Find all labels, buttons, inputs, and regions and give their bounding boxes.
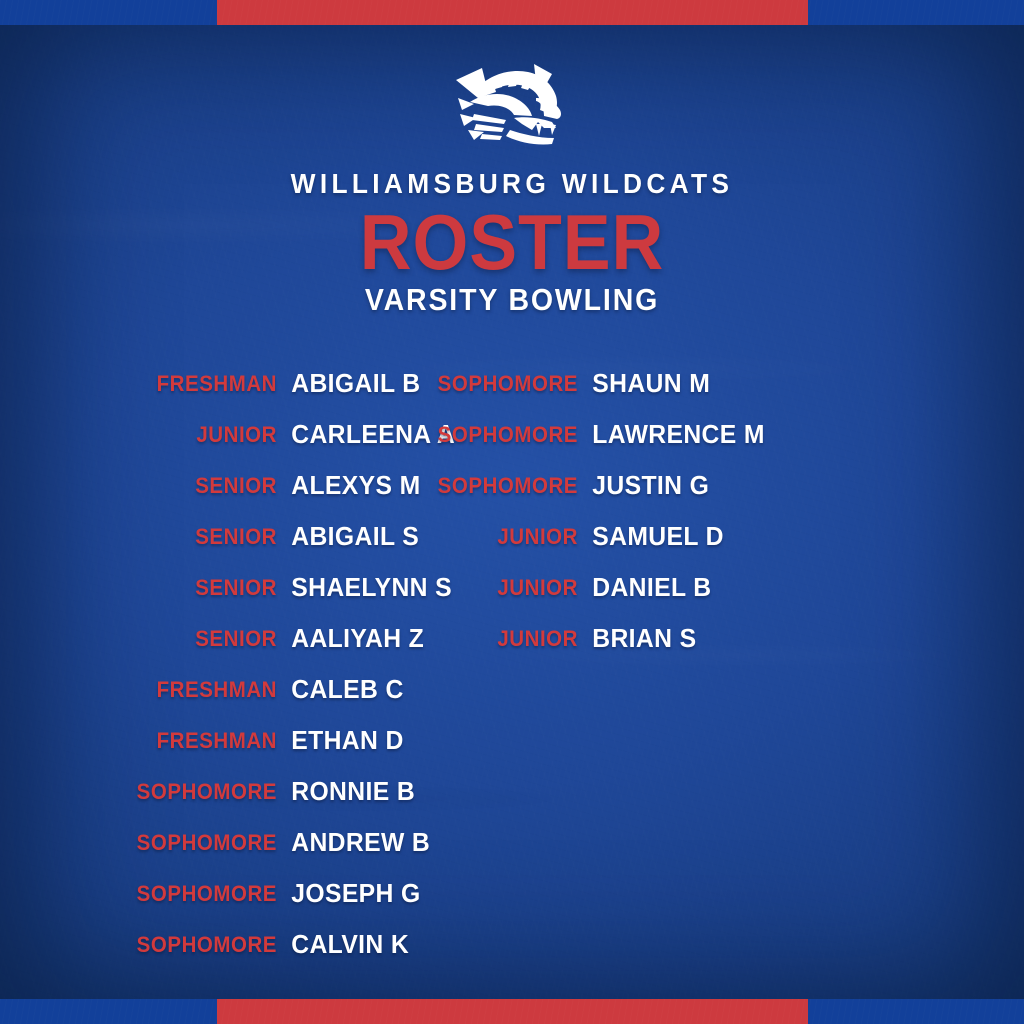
player-name: JUSTIN G <box>578 470 709 501</box>
logo-container <box>0 56 1024 152</box>
roster-row: FRESHMANCALEB C <box>0 664 446 715</box>
player-grade: SOPHOMORE <box>319 422 578 448</box>
bottom-accent-bar <box>0 999 1024 1024</box>
player-grade: JUNIOR <box>19 422 277 448</box>
player-name: CALVIN K <box>277 929 409 960</box>
player-grade: SOPHOMORE <box>319 473 578 499</box>
roster-row: JUNIORDANIEL B <box>300 562 760 613</box>
player-grade: SOPHOMORE <box>19 932 277 958</box>
title-block: WILLIAMSBURG WILDCATS ROSTER VARSITY BOW… <box>0 168 1024 317</box>
roster-column-right: SOPHOMORESHAUN MSOPHOMORELAWRENCE MSOPHO… <box>300 358 760 664</box>
page-title: ROSTER <box>41 206 983 278</box>
player-name: BRIAN S <box>578 623 696 654</box>
roster-row: SOPHOMORERONNIE B <box>0 766 446 817</box>
player-grade: SOPHOMORE <box>19 779 277 805</box>
roster-row: FRESHMANETHAN D <box>0 715 446 766</box>
player-grade: SOPHOMORE <box>19 830 277 856</box>
bottom-bar-texture <box>0 999 1024 1024</box>
team-name: WILLIAMSBURG WILDCATS <box>31 168 994 200</box>
player-name: LAWRENCE M <box>578 419 765 450</box>
roster-row: SOPHOMORESHAUN M <box>300 358 760 409</box>
player-grade: SENIOR <box>19 626 277 652</box>
player-name: ANDREW B <box>277 827 430 858</box>
roster-row: SOPHOMORELAWRENCE M <box>300 409 760 460</box>
roster-row: SOPHOMOREJOSEPH G <box>0 868 446 919</box>
player-grade: SENIOR <box>19 473 277 499</box>
player-name: RONNIE B <box>277 776 415 807</box>
wildcat-head-icon <box>452 58 572 150</box>
player-name: CALEB C <box>277 674 404 705</box>
roster-row: JUNIORBRIAN S <box>300 613 760 664</box>
roster-row: SOPHOMOREJUSTIN G <box>300 460 760 511</box>
player-grade: SENIOR <box>19 524 277 550</box>
player-grade: FRESHMAN <box>19 371 277 397</box>
roster-poster: WILLIAMSBURG WILDCATS ROSTER VARSITY BOW… <box>0 0 1024 1024</box>
player-grade: JUNIOR <box>319 626 578 652</box>
roster-list: FRESHMANABIGAIL BJUNIORCARLEENA ASENIORA… <box>0 358 1024 978</box>
player-grade: JUNIOR <box>319 575 578 601</box>
player-grade: JUNIOR <box>319 524 578 550</box>
roster-row: SOPHOMORECALVIN K <box>0 919 446 970</box>
player-grade: SENIOR <box>19 575 277 601</box>
player-grade: SOPHOMORE <box>319 371 578 397</box>
player-name: DANIEL B <box>578 572 711 603</box>
player-grade: FRESHMAN <box>19 728 277 754</box>
player-name: SAMUEL D <box>578 521 724 552</box>
roster-row: JUNIORSAMUEL D <box>300 511 760 562</box>
player-name: JOSEPH G <box>277 878 421 909</box>
top-accent-bar <box>0 0 1024 25</box>
player-name: ETHAN D <box>277 725 404 756</box>
sport-subtitle: VARSITY BOWLING <box>41 283 983 317</box>
player-grade: FRESHMAN <box>19 677 277 703</box>
player-grade: SOPHOMORE <box>19 881 277 907</box>
roster-row: SOPHOMOREANDREW B <box>0 817 446 868</box>
player-name: SHAUN M <box>578 368 710 399</box>
top-bar-texture <box>0 0 1024 25</box>
